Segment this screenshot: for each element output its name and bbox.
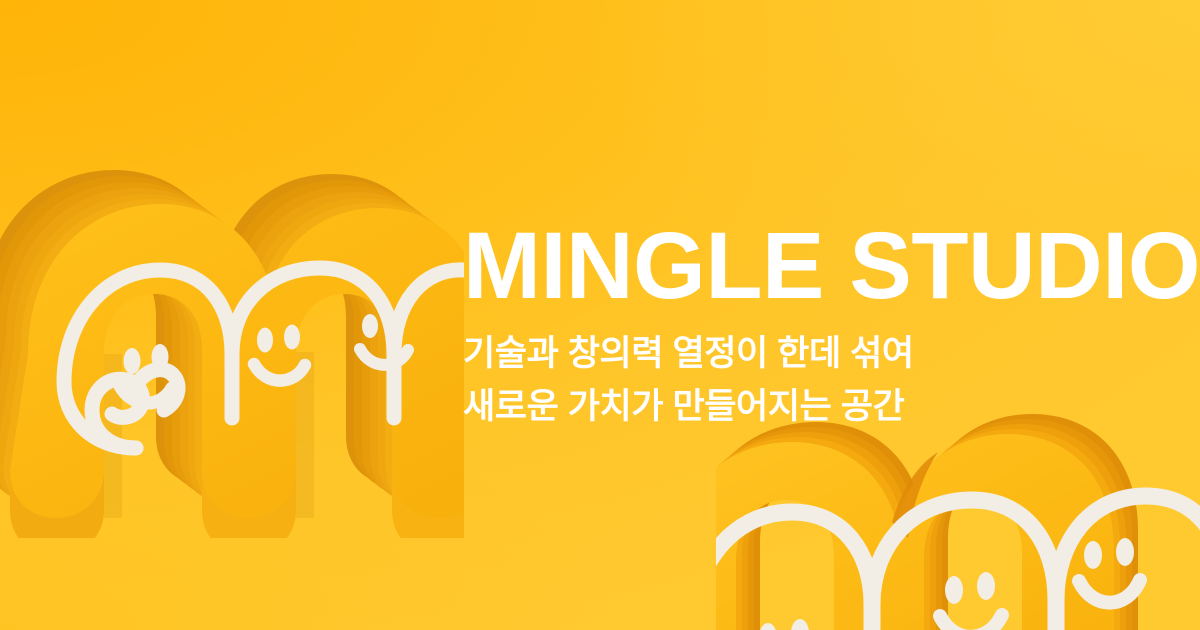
hero-text-block: MINGLE STUDIO 기술과 창의력 열정이 한데 섞여 새로운 가치가 … — [463, 222, 1178, 434]
subtitle-group: 기술과 창의력 열정이 한데 섞여 새로운 가치가 만들어지는 공간 — [463, 327, 1178, 433]
subtitle-line-2: 새로운 가치가 만들어지는 공간 — [463, 380, 1178, 433]
subtitle-line-1: 기술과 창의력 열정이 한데 섞여 — [463, 327, 1178, 380]
page-title: MINGLE STUDIO — [463, 222, 1167, 311]
promo-banner: MINGLE STUDIO 기술과 창의력 열정이 한데 섞여 새로운 가치가 … — [0, 0, 1200, 630]
mingle-logo-left — [0, 118, 464, 538]
mingle-logo-bottom-right — [716, 404, 1200, 630]
